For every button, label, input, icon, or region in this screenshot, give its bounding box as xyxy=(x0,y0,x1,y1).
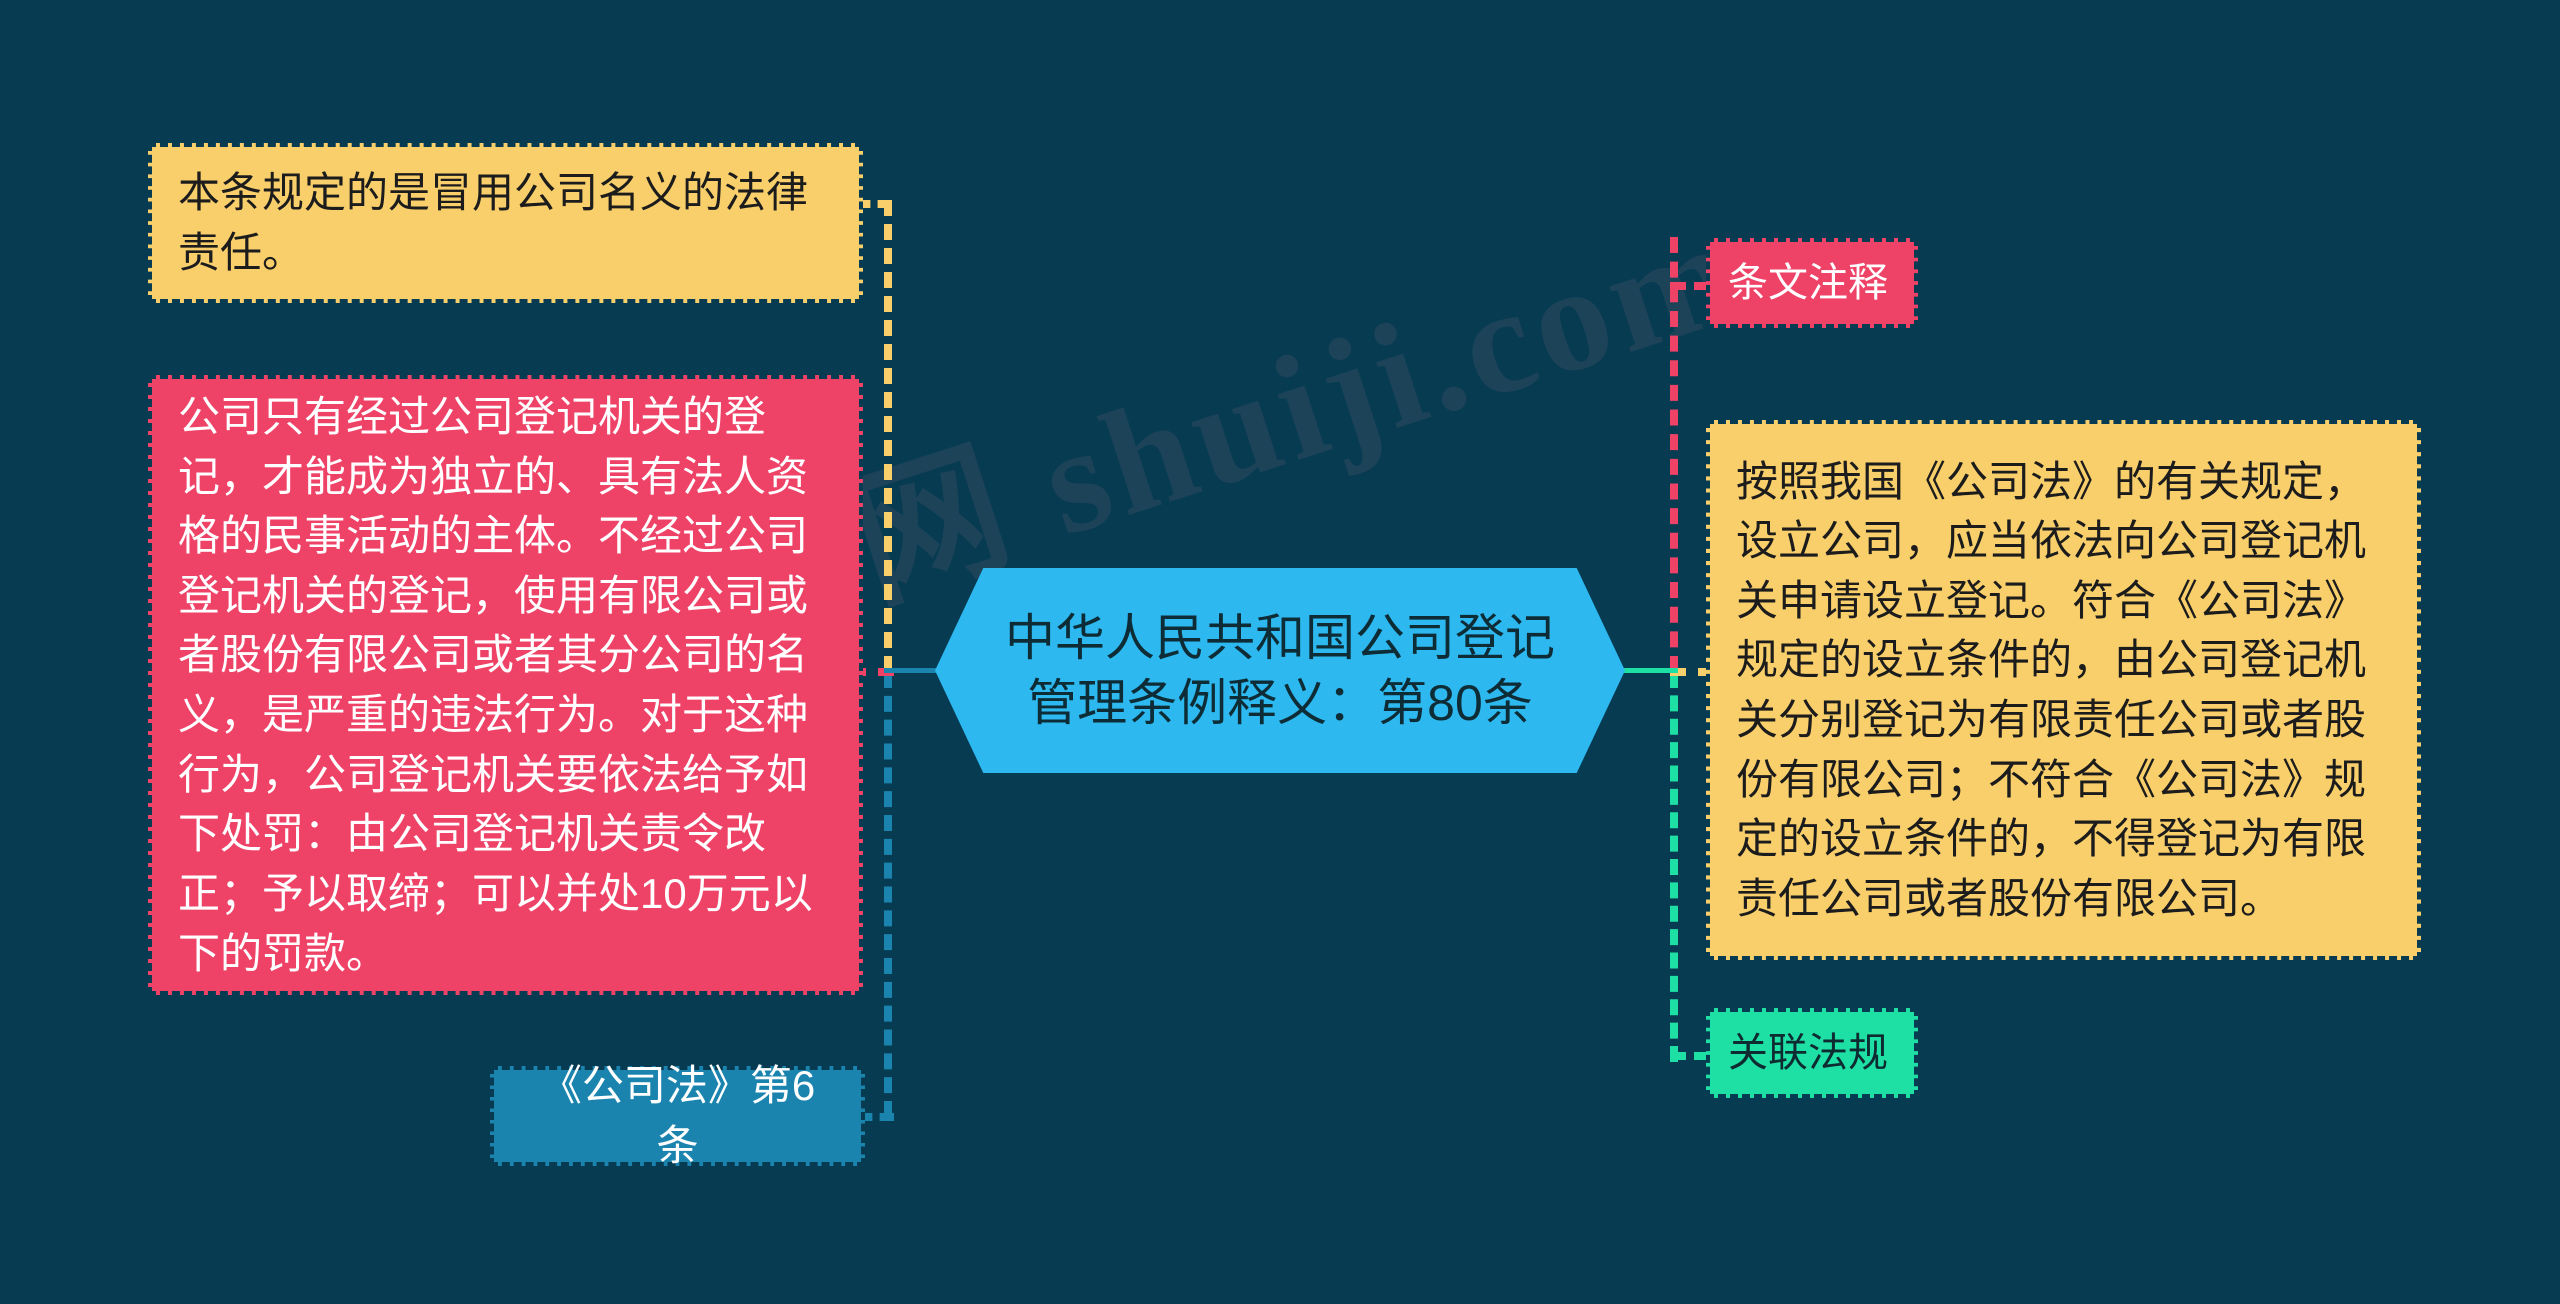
right-spine-lower xyxy=(1670,672,1678,1062)
node-central-topic[interactable]: 中华人民共和国公司登记管理条例释义：第80条 xyxy=(935,568,1625,773)
node-tag-annotation[interactable]: 条文注释 xyxy=(1706,238,1918,328)
node-summary-text: 本条规定的是冒用公司名义的法律责任。 xyxy=(178,163,833,282)
node-company-law-article-text: 《公司法》第6条 xyxy=(520,1056,835,1175)
node-summary[interactable]: 本条规定的是冒用公司名义的法律责任。 xyxy=(148,143,863,303)
left-spine-upper xyxy=(884,200,892,672)
node-central-topic-text: 中华人民共和国公司登记管理条例释义：第80条 xyxy=(935,606,1625,736)
node-interpretation-text: 公司只有经过公司登记机关的登记，才能成为独立的、具有法人资格的民事活动的主体。不… xyxy=(178,387,833,983)
node-company-law-article[interactable]: 《公司法》第6条 xyxy=(490,1066,865,1166)
node-tag-related-regulations-text: 关联法规 xyxy=(1728,1025,1896,1082)
right-spine-upper xyxy=(1670,237,1678,672)
right-stub-related xyxy=(1670,1052,1710,1060)
node-interpretation[interactable]: 公司只有经过公司登记机关的登记，才能成为独立的、具有法人资格的民事活动的主体。不… xyxy=(148,375,863,995)
node-regulation-text-body: 按照我国《公司法》的有关规定，设立公司，应当依法向公司登记机关申请设立登记。符合… xyxy=(1736,452,2391,929)
node-tag-related-regulations[interactable]: 关联法规 xyxy=(1706,1008,1918,1098)
right-stub-annotation xyxy=(1670,282,1710,290)
node-tag-annotation-text: 条文注释 xyxy=(1728,255,1896,312)
left-spine-lower xyxy=(884,672,892,1117)
node-regulation-text[interactable]: 按照我国《公司法》的有关规定，设立公司，应当依法向公司登记机关申请设立登记。符合… xyxy=(1706,420,2421,960)
mindmap-canvas: 法律图网 shuiji.com 本条规定的是冒用公司名义的法律责任。 公司只有经… xyxy=(0,0,2560,1304)
